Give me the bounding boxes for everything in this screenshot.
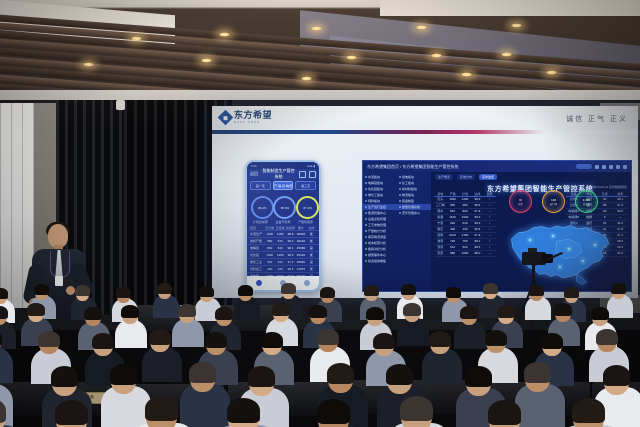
audience-member [318,401,392,427]
table-cell: 1180 [446,197,458,202]
mobile-app-mockup: 9:41 ●●● ▮ 返回 智能制造生产管控系统 第一天 产-销-存-物流 第三… [245,160,321,292]
stage-tab[interactable]: 生产概览 [435,174,453,180]
col-header: 达成 [471,192,483,196]
table-left-body: 包头1180120098.3↑三门峡96598098.5↑晋中84286097.… [434,197,496,257]
table-cell: 1185 [275,232,284,236]
desktop-dashboard-mockup: 东方希望集团首页 / 东方希望集团智能生产管控系统 [362,160,632,292]
map-node [552,235,554,237]
scan-icon[interactable] [299,171,306,178]
table-cell: 620 [446,221,458,226]
ceiling-downlight [500,52,513,57]
ceiling-downlight [82,62,95,67]
settings-icon[interactable] [616,165,620,169]
sidebar-item-label: 库存物流调度 [368,235,386,239]
projection-screen: 东方希望 EAST HOPE 诚信 正气 正义 9:41 ●●● ▮ 返回 [212,106,638,298]
table-cell: ↑ [484,239,496,244]
phone-gauge: 98.2% 计划完成率 [251,196,270,224]
kpi-running[interactable]: 148 运行中 [542,190,565,213]
audience-member [228,400,302,427]
table-cell: 优 [307,232,316,236]
audience-hair [320,287,334,298]
table-row: 饲料加工43042899.512870优 [247,265,319,272]
audience-hair [541,333,563,349]
table-cell: 渭南 [434,245,446,250]
sidebar-item-label: 成本核算分析 [368,241,386,245]
table-cell: 640 [265,260,274,264]
audience-member [146,398,220,427]
audience-hair [309,305,326,318]
audience-hair [373,333,395,349]
audience-hair [603,365,630,386]
audience-hair [485,330,507,346]
bullet-icon [365,242,367,244]
bullet-icon [365,236,367,238]
table-cell: 98.6 [286,253,295,257]
status-time: 9:41 [251,164,257,168]
table-cell: 良 [307,260,316,264]
phone-tab-active[interactable]: 产-销-存-物流 [273,181,294,190]
slide-header: 东方希望 EAST HOPE 诚信 正气 正义 [212,106,638,130]
gauge-label: 设备开机率 [273,220,292,224]
table-cell: 熟料产量 [250,239,264,243]
table-cell: 重庆 [434,227,446,232]
table-cell: 98.1 [613,197,629,202]
audience-hair [281,283,295,294]
table-cell: 饲料加工 [250,267,264,271]
gauge-label: 计划完成率 [251,220,270,224]
refresh-icon[interactable] [602,165,606,169]
audience-hair [596,329,618,345]
audience-hair [572,398,605,423]
sidebar-item-label: 安环管理中心 [402,211,420,215]
table-cell: 88 [597,203,613,208]
table-cell: → [484,233,496,238]
sidebar-item-label: 能源管理中心 [368,211,386,215]
audience-hair [0,330,2,346]
slide-surface: 东方希望 EAST HOPE 诚信 正气 正义 9:41 ●●● ▮ 返回 [212,106,638,298]
table-cell: 98.0 [471,251,483,256]
phone-gauges: 98.2% 计划完成率 95.6% 设备开机率 87.4% 产能利用率 [247,192,319,226]
table-cell: 安阳 [434,251,446,256]
dashboard-sidebar: 水泥板块电解铝板块氧化铝板块重化工板块饲料板块生产运行监控能源管理中心 煤电板块… [363,172,431,291]
table-row: 重化工业64062297.218960良 [247,258,319,265]
audience-member [401,398,475,427]
audience-hair [364,285,378,296]
audience-hair [446,287,460,298]
audience-hair [261,332,283,348]
table-cell: 96.9 [471,221,483,226]
table-cell: 860 [459,209,471,214]
sidebar-item-label: 煤电板块 [402,175,414,179]
audience-hair [403,303,420,316]
slide-body: 9:41 ●●● ▮ 返回 智能制造生产管控系统 第一天 产-销-存-物流 第三… [212,134,638,298]
sidebar-item-label: 设备点检管理 [368,217,386,221]
table-cell: 三门峡 [434,203,446,208]
topbar-icons [576,164,627,169]
table-cell: 980 [459,203,471,208]
table-cell: 97.9 [471,209,483,214]
sidebar-item-label: 质量管理系统 [402,205,420,209]
table-left: 基地产量计划达成趋势 包头1180120098.3↑三门峡96598098.5↑… [434,192,496,257]
audience: 参会者 [0,282,640,427]
sidebar-item-label: 报警事件中心 [368,253,386,257]
table-cell: 98.5 [471,245,483,250]
sidebar-item-label: 工艺参数管理 [368,223,386,227]
bullet-icon [399,182,401,184]
col-header: 计划 [459,192,471,196]
audience-hair [145,396,178,421]
table-cell: 430 [265,267,274,271]
table-cell: 750 [459,239,471,244]
stage-tab[interactable]: 区域分布 [457,174,475,180]
table-cell: 1200 [265,232,274,236]
audience-hair [0,306,8,319]
table-cell: 优 [307,267,316,271]
table-cell: 2150 [459,233,471,238]
table-cell: 淮南 [434,239,446,244]
bullet-icon [399,206,401,208]
ceiling-downlight [510,23,523,28]
table-cell: 99.2 [286,239,295,243]
table-cell: 97.4 [613,203,629,208]
bullet-icon [365,224,367,226]
bullet-icon [399,200,401,202]
menu-icon[interactable] [309,171,316,178]
phone-tab[interactable]: 第一天 [250,181,271,190]
phone-tab[interactable]: 第三天 [295,181,316,190]
audience-hair [497,305,514,318]
audience-member [56,402,130,427]
audience-hair [205,332,227,348]
audience-hair [215,307,232,320]
bullet-icon [399,194,401,196]
bullet-icon [365,230,367,232]
table-cell: → [484,251,496,256]
audience-hair [488,400,521,425]
ceiling-downlight [300,76,313,81]
table-cell: 860 [265,246,274,250]
table-cell: 430 [459,227,471,232]
fullscreen-icon[interactable] [609,165,613,169]
audience-hair [460,306,477,319]
phone-table-header: 项目 日计划 日完成 完成率 累计 达成 [247,226,319,230]
stage-tabs: 生产概览 区域分布 实时监控 [431,172,631,182]
phone-title: 智能制造生产管控系统 [261,168,296,180]
sidebar-item[interactable]: 能源管理中心 [363,210,397,216]
col-header: 负荷 [597,192,613,196]
sidebar-column-1: 水泥板块电解铝板块氧化铝板块重化工板块饲料板块生产运行监控能源管理中心 [363,174,397,216]
audience-hair [189,362,216,383]
bullet-icon [365,200,367,202]
col-header: 日计划 [265,226,274,230]
sidebar-item-label: 饲料板块 [368,199,380,203]
table-cell: 99.5 [286,267,295,271]
table-cell: 1498 [275,253,284,257]
kpi-capacity[interactable]: 2,196 总产能 [575,190,598,213]
table-cell: 98.3 [471,197,483,202]
table-cell: ↑ [484,215,496,220]
audience-hair [149,329,171,345]
sidebar-item-label: 氧化铝板块 [368,187,383,191]
ceiling-downlight [415,25,428,30]
table-cell: 622 [275,260,284,264]
audience-hair [38,331,60,347]
table-cell: ↑ [484,245,496,250]
table-cell: 99.5 [471,227,483,232]
audience-hair [27,303,44,316]
audience-hair [317,399,350,424]
table-cell: 宁夏 [434,221,446,226]
ceiling-sprinkler-icon [116,100,125,110]
gauge-ring: 95.6% [273,196,296,219]
brand-name-en: EAST HOPE [234,120,272,124]
audience-hair [564,287,578,298]
sidebar-item-label: 装备制造 [402,199,414,203]
col-header: 累计 [296,226,305,230]
bullet-icon [365,260,367,262]
phone-gauge: 87.4% 产能利用率 [296,196,315,224]
col-header: 日完成 [275,226,284,230]
ceiling-downlight [460,72,473,77]
table-cell: 1520 [459,215,471,220]
audience-hair [400,396,433,421]
map-node [529,239,531,241]
ceiling-downlight [200,58,213,63]
table-cell: 新疆 [434,215,446,220]
conference-room-photo: 东方希望 EAST HOPE 诚信 正气 正义 9:41 ●●● ▮ 返回 [0,0,640,427]
table-cell: 97.2 [286,260,295,264]
ceiling-downlight [310,26,323,31]
table-cell: 972 [275,239,284,243]
audience-member [0,400,48,427]
audience-hair [272,303,289,316]
table-cell: 优 [307,253,316,257]
ceiling-downlight [545,70,558,75]
table-cell: 98.1 [471,239,483,244]
audience-hair [178,304,195,317]
kpi-alert[interactable]: 32 预警 [509,190,532,213]
table-cell: 1520 [265,253,274,257]
bullet-icon [399,176,401,178]
bullet-icon [365,248,367,250]
table-row: 安阳980100098.0→ [434,251,496,257]
dashboard-main: 水泥板块电解铝板块氧化铝板块重化工板块饲料板块生产运行监控能源管理中心 煤电板块… [363,172,631,291]
audience-hair [0,398,6,423]
sidebar-item[interactable]: 综合绩效看板 [363,258,431,264]
col-header: 完成率 [286,226,295,230]
col-header: 达成 [307,226,316,230]
table-row: 水泥生产1200118598.836520优 [247,230,319,237]
ceiling [0,0,640,112]
audience-hair [55,400,88,425]
phone-gauge: 95.6% 设备开机率 [273,196,292,224]
ceiling-downlight [345,55,358,60]
company-logo: 东方希望 EAST HOPE [220,111,272,124]
audience-hair [429,331,451,347]
sidebar-item-label: 生产运行监控 [368,205,386,209]
phone-table-body: 水泥生产1200118598.836520优熟料产量98097299.22914… [247,230,319,279]
table-cell: 18960 [296,260,305,264]
dashboard-topbar: 东方希望集团首页 / 东方希望集团智能生产管控系统 [363,161,631,172]
table-cell: 736 [446,239,458,244]
sidebar-item-label: 电解铝板块 [368,181,383,185]
table-cell: 1000 [459,251,471,256]
audience-hair [317,329,339,345]
phone-navbar: 返回 智能制造生产管控系统 [247,169,319,179]
bullet-icon [365,254,367,256]
table-cell: 包头 [434,197,446,202]
table-cell: 昆明 [434,233,446,238]
col-header: 项目 [250,226,264,230]
bullet-icon [365,206,367,208]
table-row: 熟料产量98097299.229140优 [247,237,319,244]
table-cell: ↓ [484,221,496,226]
kpi-label: 预警 [518,202,523,206]
sidebar-item-label: 能耗对标分析 [368,247,386,251]
audience-hair [591,307,608,320]
table-cell: ↑ [484,227,496,232]
table-cell: 844 [275,246,284,250]
sidebar-sublist: 设备点检管理工艺参数管理产量统计分析库存物流调度成本核算分析能耗对标分析报警事件… [363,216,431,264]
brand-name-cn: 东方希望 [234,111,272,120]
audience-hair [75,285,89,296]
table-cell: ↑ [484,197,496,202]
table-cell: ↑ [484,203,496,208]
table-cell: 92 [597,197,613,202]
table-cell: 98.1 [286,246,295,250]
audience-hair [554,303,571,316]
audience-hair [84,307,101,320]
audience-hair [110,364,137,385]
audience-hair [366,307,383,320]
ceiling-downlight [130,36,143,41]
back-button[interactable]: 返回 [250,171,258,177]
col-header: 产量 [446,192,458,196]
stage-tab-active[interactable]: 实时监控 [479,174,497,180]
bullet-icon [365,194,367,196]
table-cell: 2104 [446,233,458,238]
sidebar-column-2: 煤电板块化工板块新材料板块物流板块装备制造质量管理系统安环管理中心 [397,174,431,216]
bullet-icon [399,188,401,190]
ceiling-downlight [218,32,231,37]
audience-hair [611,283,625,294]
table-cell: 电解铝 [250,246,264,250]
table-cell: 640 [459,221,471,226]
sidebar-columns: 水泥板块电解铝板块氧化铝板块重化工板块饲料板块生产运行监控能源管理中心 煤电板块… [363,174,431,216]
gauge-ring: 87.4% [296,196,319,219]
col-header: 效率 [613,192,629,196]
audience-member [573,400,640,427]
ceiling-downlight [430,53,443,58]
slide-motto: 诚信 正气 正义 [566,114,628,124]
bullet-icon [365,188,367,190]
table-cell: 水泥生产 [250,232,264,236]
diamond-logo-icon [218,110,234,126]
audience-hair [529,285,543,296]
table-cell: 97.9 [471,233,483,238]
sidebar-item-label: 新材料板块 [402,187,417,191]
table-cell: 晋中 [434,209,446,214]
sidebar-item-label: 化工板块 [402,181,414,185]
gauge-ring: 98.2% [251,196,274,219]
kpi-label: 总产能 [583,202,591,206]
audience-hair [465,366,492,387]
table-cell: 980 [265,239,274,243]
table-cell: → [484,209,496,214]
table-cell: 980 [446,251,458,256]
audience-hair [248,366,275,387]
phone-tab-bar: 第一天 产-销-存-物流 第三天 [247,179,319,192]
audience-hair [401,284,415,295]
audience-hair [386,364,413,385]
audience-hair [116,287,130,298]
bullet-icon [365,182,367,184]
sidebar-item-label: 综合绩效看板 [368,259,386,263]
audience-hair [34,284,48,295]
table-cell: 良 [307,246,316,250]
map-node [594,244,596,246]
status-indicators: ●●● ▮ [307,164,315,168]
audience-hair [0,288,8,299]
sidebar-item[interactable]: 安环管理中心 [397,210,431,216]
table-cell: 428 [275,267,284,271]
sidebar-item-label: 重化工板块 [368,193,383,197]
kpi-label: 运行中 [550,202,558,206]
audience-hair [238,285,252,296]
gauge-label: 产能利用率 [296,220,315,224]
table-cell: 428 [446,227,458,232]
table-cell: 12870 [296,267,305,271]
table-cell: 25380 [296,246,305,250]
table-cell: 98.8 [286,232,295,236]
audience-hair [121,305,138,318]
table-cell: 99.3 [471,215,483,220]
audience-hair [483,283,497,294]
table-row: 电解铝86084498.125380良 [247,244,319,251]
bullet-icon [399,212,401,214]
audience-hair [524,362,551,383]
table-cell: 29140 [296,239,305,243]
audience-hair [92,333,114,349]
col-header: 趋势 [484,192,496,196]
audience-hair [51,366,78,387]
table-cell: 1510 [446,215,458,220]
audience-hair [157,283,171,294]
table-cell: 512 [446,245,458,250]
audience-member [489,402,563,427]
col-header: 基地 [434,192,446,196]
table-cell: 优 [307,239,316,243]
table-cell: 36520 [296,232,305,236]
table-row: 氧化铝1520149898.645120优 [247,251,319,258]
table-cell: 氧化铝 [250,253,264,257]
ceiling-white-band-right [380,0,640,16]
bell-icon[interactable] [595,165,599,169]
bullet-icon [365,218,367,220]
audience-hair [227,398,260,423]
audience-hair [199,286,213,297]
table-cell: 98.5 [471,203,483,208]
user-pill[interactable] [576,164,592,169]
sidebar-item-label: 水泥板块 [368,175,380,179]
table-cell: 520 [459,245,471,250]
audience-hair [327,363,354,384]
table-cell: 842 [446,209,458,214]
bullet-icon [365,212,367,214]
user-icon[interactable] [623,165,627,169]
table-cell: 965 [446,203,458,208]
table-cell: 45120 [296,253,305,257]
